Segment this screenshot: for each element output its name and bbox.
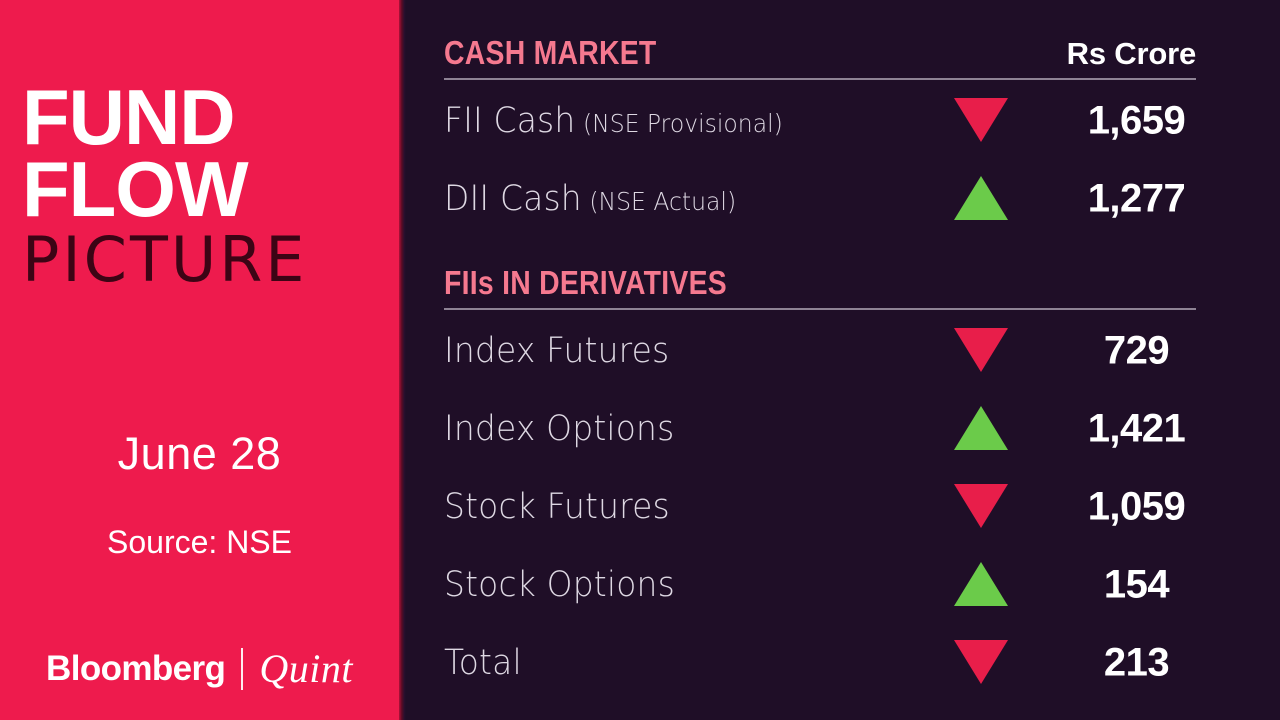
triangle-down-icon xyxy=(954,484,1008,530)
brand-title-line-1: FUND xyxy=(22,82,382,154)
source-label: Source: NSE xyxy=(0,524,399,561)
row-value: 213 xyxy=(1034,641,1239,686)
publisher-bloomberg-wordmark: Bloomberg xyxy=(46,649,225,689)
brand-title-line-3: PICTURE xyxy=(22,228,382,291)
row-label-main: Total xyxy=(444,643,522,683)
brand-logo: FUND FLOW PICTURE xyxy=(22,82,382,291)
row-value: 154 xyxy=(1034,563,1239,608)
triangle-up-icon xyxy=(954,562,1008,608)
row-label-main: Index Futures xyxy=(444,331,669,371)
row-label-main: Stock Futures xyxy=(444,487,670,527)
row-label: Stock Options xyxy=(444,565,675,605)
date-label: June 28 xyxy=(0,428,399,480)
section-title: CASH MARKET xyxy=(444,34,657,72)
table-row: Index Options 1,421 xyxy=(444,390,1196,468)
fund-flow-infographic: FUND FLOW PICTURE June 28 Source: NSE Bl… xyxy=(0,0,1280,720)
row-value: 1,659 xyxy=(1034,99,1239,144)
row-label-main: Stock Options xyxy=(444,565,675,605)
section-header: FIIs IN DERIVATIVES xyxy=(444,264,1196,302)
section-fiis-in-derivatives: FIIs IN DERIVATIVES Index Futures 729 In… xyxy=(444,264,1196,702)
table-row: Total 213 xyxy=(444,624,1196,702)
triangle-down-icon xyxy=(954,328,1008,374)
row-value: 1,059 xyxy=(1034,485,1239,530)
table-row: FII Cash(NSE Provisional) 1,659 xyxy=(444,82,1196,160)
row-label: DII Cash(NSE Actual) xyxy=(444,179,736,219)
section-rule xyxy=(444,308,1196,310)
row-label: Total xyxy=(444,643,522,683)
section-rule xyxy=(444,78,1196,80)
brand-panel: FUND FLOW PICTURE June 28 Source: NSE Bl… xyxy=(0,0,399,720)
triangle-up-icon xyxy=(954,176,1008,222)
row-label: FII Cash(NSE Provisional) xyxy=(444,101,783,141)
row-label-main: FII Cash xyxy=(444,101,575,141)
table-row: DII Cash(NSE Actual) 1,277 xyxy=(444,160,1196,238)
section-rows: FII Cash(NSE Provisional) 1,659 DII Cash… xyxy=(444,82,1196,238)
triangle-down-icon xyxy=(954,640,1008,686)
section-title: FIIs IN DERIVATIVES xyxy=(444,264,727,302)
panel-divider xyxy=(399,0,406,720)
row-label: Index Futures xyxy=(444,331,669,371)
data-panel: CASH MARKET Rs Crore FII Cash(NSE Provis… xyxy=(406,0,1280,720)
row-label-main: DII Cash xyxy=(444,179,582,219)
row-label-sub: (NSE Actual) xyxy=(589,187,736,216)
brand-title-line-2: FLOW xyxy=(22,154,382,226)
row-value: 1,277 xyxy=(1034,177,1239,222)
row-label: Index Options xyxy=(444,409,674,449)
triangle-up-icon xyxy=(954,406,1008,452)
publisher-divider-icon xyxy=(241,648,243,690)
section-unit-label: Rs Crore xyxy=(1067,36,1196,72)
section-cash-market: CASH MARKET Rs Crore FII Cash(NSE Provis… xyxy=(444,34,1196,238)
publisher-logo: Bloomberg Quint xyxy=(0,645,399,692)
row-value: 1,421 xyxy=(1034,407,1239,452)
row-label: Stock Futures xyxy=(444,487,670,527)
publisher-quint-wordmark: Quint xyxy=(259,645,353,692)
row-label-main: Index Options xyxy=(444,409,674,449)
table-row: Stock Options 154 xyxy=(444,546,1196,624)
section-rows: Index Futures 729 Index Options 1,421 St… xyxy=(444,312,1196,702)
section-header: CASH MARKET Rs Crore xyxy=(444,34,1196,72)
table-row: Index Futures 729 xyxy=(444,312,1196,390)
row-value: 729 xyxy=(1034,329,1239,374)
table-row: Stock Futures 1,059 xyxy=(444,468,1196,546)
triangle-down-icon xyxy=(954,98,1008,144)
row-label-sub: (NSE Provisional) xyxy=(583,109,783,138)
